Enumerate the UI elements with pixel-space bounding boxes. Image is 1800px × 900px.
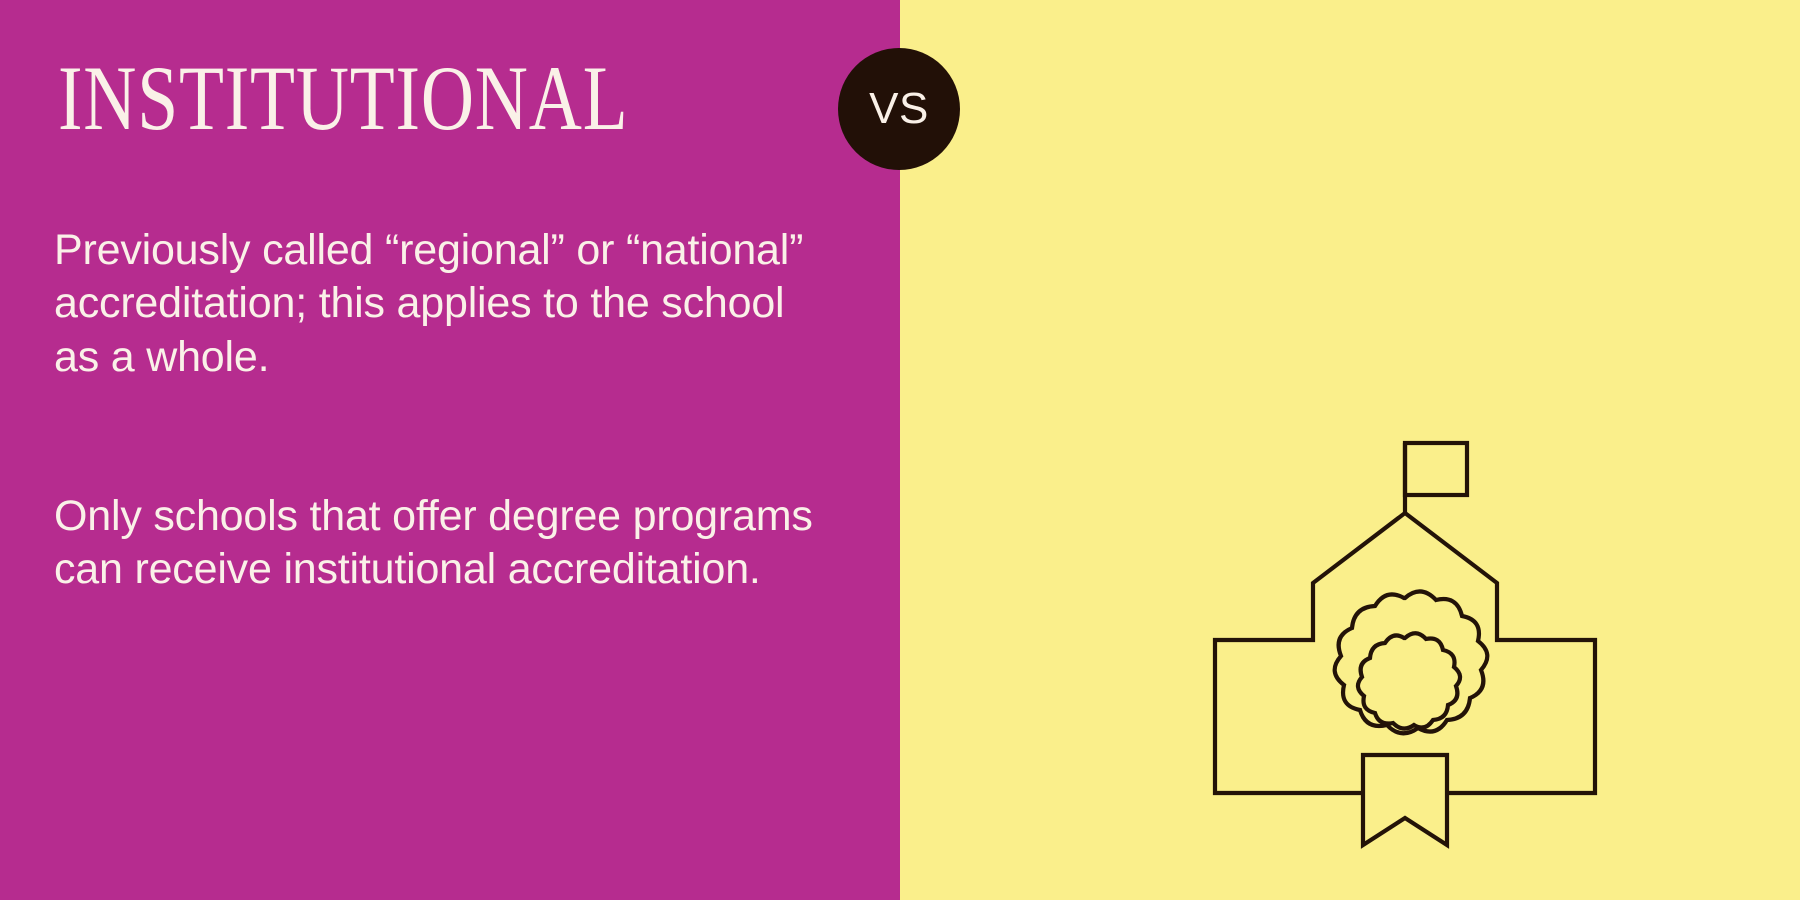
- institutional-paragraph-2: Only schools that offer degree programs …: [54, 490, 814, 597]
- versus-label: VS: [869, 87, 929, 131]
- versus-badge: VS: [838, 48, 960, 170]
- institutional-paragraph-1: Previously called “regional” or “nationa…: [54, 224, 814, 384]
- institutional-heading: INSTITUTIONAL: [58, 52, 628, 144]
- school-building-outline: [1215, 513, 1595, 793]
- award-ribbon-tails: [1363, 755, 1447, 845]
- institutional-column: INSTITUTIONAL Previously called “regiona…: [0, 0, 900, 900]
- school-building-with-award-badge-icon: [1195, 425, 1615, 855]
- institutional-paragraph-2-container: Only schools that offer degree programs …: [54, 490, 814, 597]
- institutional-paragraph-1-container: Previously called “regional” or “nationa…: [54, 224, 814, 384]
- accreditation-comparison-infographic: INSTITUTIONAL Previously called “regiona…: [0, 0, 1800, 900]
- award-rosette-inner: [1358, 633, 1460, 728]
- flag-banner-rect: [1405, 443, 1467, 495]
